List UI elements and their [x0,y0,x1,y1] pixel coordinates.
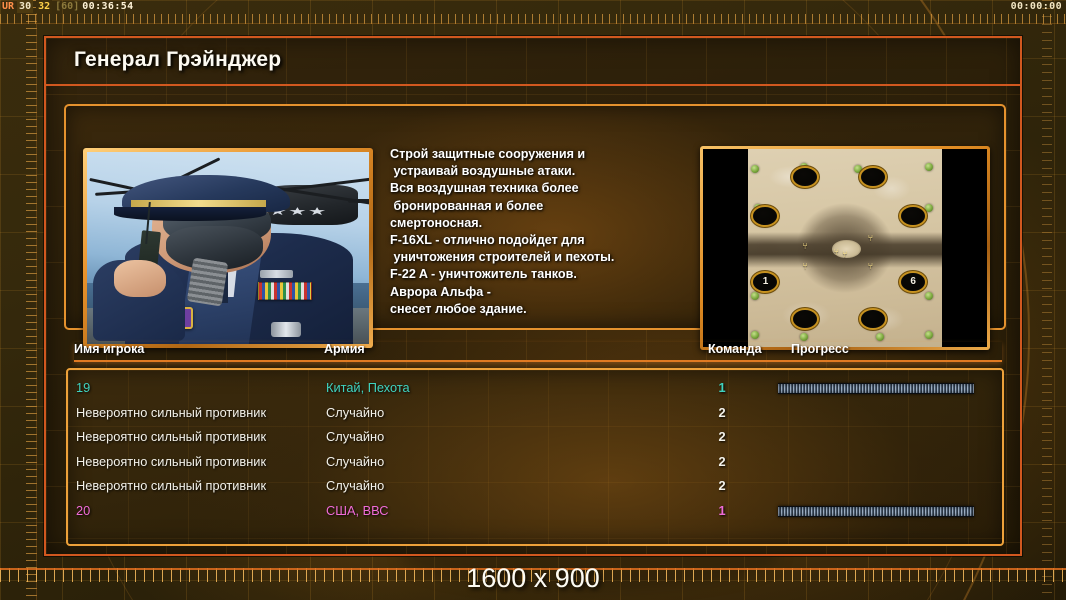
tech-structure-marker: ⑂ [868,262,877,271]
table-row[interactable]: Невероятно сильный противникСлучайно2 [68,425,1002,450]
table-row[interactable]: 20США, ВВС1 [68,499,1002,524]
army-select-cell[interactable]: США, ВВС [326,499,389,524]
player-name-cell[interactable]: Невероятно сильный противник [76,474,266,499]
page-title: Генерал Грэйнджер [74,48,281,72]
progress-bar [778,506,974,517]
medal-ribbons-icon [258,282,312,301]
general-info-panel: Строй защитные сооружения и устраивай во… [64,104,1006,330]
player-table-header: Имя игрока Армия Команда Прогресс [74,342,1002,362]
description-line: F-16XL - отлично подойдет для [390,232,704,249]
ruler-strip-top [0,14,1066,24]
player-name-cell[interactable]: Невероятно сильный противник [76,401,266,426]
pilot-wings-icon [260,270,292,278]
description-line: устраивай воздушные атаки. [390,163,704,180]
army-select-cell[interactable]: Случайно [326,425,384,450]
player-name-cell[interactable]: 20 [76,499,90,524]
description-line: смертоносная. [390,215,704,232]
description-line: F-22 A - уничтожитель танков. [390,266,704,283]
progress-cell [778,481,974,492]
start-position-marker[interactable]: 6 [901,273,925,291]
team-select-cell[interactable]: 1 [711,376,733,401]
army-select-cell[interactable]: Китай, Пехота [326,376,410,401]
tech-structure-marker: ⑂ [802,242,811,251]
progress-cell [778,432,974,443]
tech-structure-marker: ⑂ [868,234,877,243]
resolution-overlay: 1600 x 900 [0,563,1066,594]
start-position-marker[interactable] [793,168,817,186]
progress-cell [778,506,974,517]
player-name-cell[interactable]: 19 [76,376,90,401]
supply-dock-marker [925,292,933,300]
description-line: Строй защитные сооружения и [390,146,704,163]
table-row[interactable]: Невероятно сильный противникСлучайно2 [68,474,1002,499]
ruler-strip-left [26,0,37,600]
supply-dock-marker [925,331,933,339]
hud-clock-right: 00:00:00 [1011,0,1062,13]
general-description: Строй защитные сооружения и устраивай во… [390,146,704,318]
team-select-cell[interactable]: 2 [711,474,733,499]
skirmish-setup-dialog: Генерал Грэйнджер [44,36,1022,556]
hud-value-3: [60] [55,0,79,13]
supply-dock-marker [925,163,933,171]
column-header-army: Армия [324,342,365,356]
progress-cell [778,383,974,394]
player-table-panel: 19Китай, Пехота1Невероятно сильный проти… [66,368,1004,546]
description-line: уничтожения строителей и пехоты. [390,249,704,266]
unit-badge-icon [271,322,301,337]
start-position-marker[interactable]: 1 [753,273,777,291]
officer-figure [93,175,364,344]
progress-bar [778,383,974,394]
column-header-player-name: Имя игрока [74,342,144,356]
supply-dock-marker [854,165,862,173]
team-select-cell[interactable]: 2 [711,401,733,426]
minimap-preview[interactable]: ⑂⑂⑂⑂⑂⑂16 [703,149,987,347]
progress-cell [778,457,974,468]
hud-clock-left: 00:36:54 [82,0,133,13]
hud-tag: UR [2,0,14,13]
tech-structure-marker: ⑂ [802,262,811,271]
description-line: Аврора Альфа - [390,284,704,301]
description-line: бронированная и более [390,198,704,215]
ruler-strip-right [1042,0,1052,600]
column-header-team: Команда [708,342,762,356]
team-select-cell[interactable]: 2 [711,450,733,475]
portrait-frame [83,148,373,348]
army-select-cell[interactable]: Случайно [326,401,384,426]
table-row[interactable]: Невероятно сильный противникСлучайно2 [68,450,1002,475]
hud-value-1: 30 [17,0,33,13]
hud-value-2: 32 [36,0,52,13]
supply-dock-marker [800,333,808,341]
team-select-cell[interactable]: 1 [711,499,733,524]
team-select-cell[interactable]: 2 [711,425,733,450]
tech-structure-marker: ⑂ [842,250,851,259]
general-granger-portrait [87,152,369,344]
oxygen-hose-icon [187,257,229,306]
minimap-frame[interactable]: ⑂⑂⑂⑂⑂⑂16 [700,146,990,350]
table-row[interactable]: Невероятно сильный противникСлучайно2 [68,401,1002,426]
army-select-cell[interactable]: Случайно [326,474,384,499]
hud-debug-bar: UR 30 32 [60] 00:36:54 [2,0,134,13]
game-screen: UR 30 32 [60] 00:36:54 00:00:00 Генерал … [0,0,1066,600]
progress-cell [778,408,974,419]
table-row[interactable]: 19Китай, Пехота1 [68,376,1002,401]
player-name-cell[interactable]: Невероятно сильный противник [76,425,266,450]
description-line: снесет любое здание. [390,301,704,318]
supply-dock-marker [751,292,759,300]
column-header-progress: Прогресс [791,342,849,356]
army-select-cell[interactable]: Случайно [326,450,384,475]
description-line: Вся воздушная техника более [390,180,704,197]
player-name-cell[interactable]: Невероятно сильный противник [76,450,266,475]
supply-dock-marker [925,204,933,212]
dialog-title-bar: Генерал Грэйнджер [46,38,1020,86]
start-position-marker[interactable] [861,168,885,186]
